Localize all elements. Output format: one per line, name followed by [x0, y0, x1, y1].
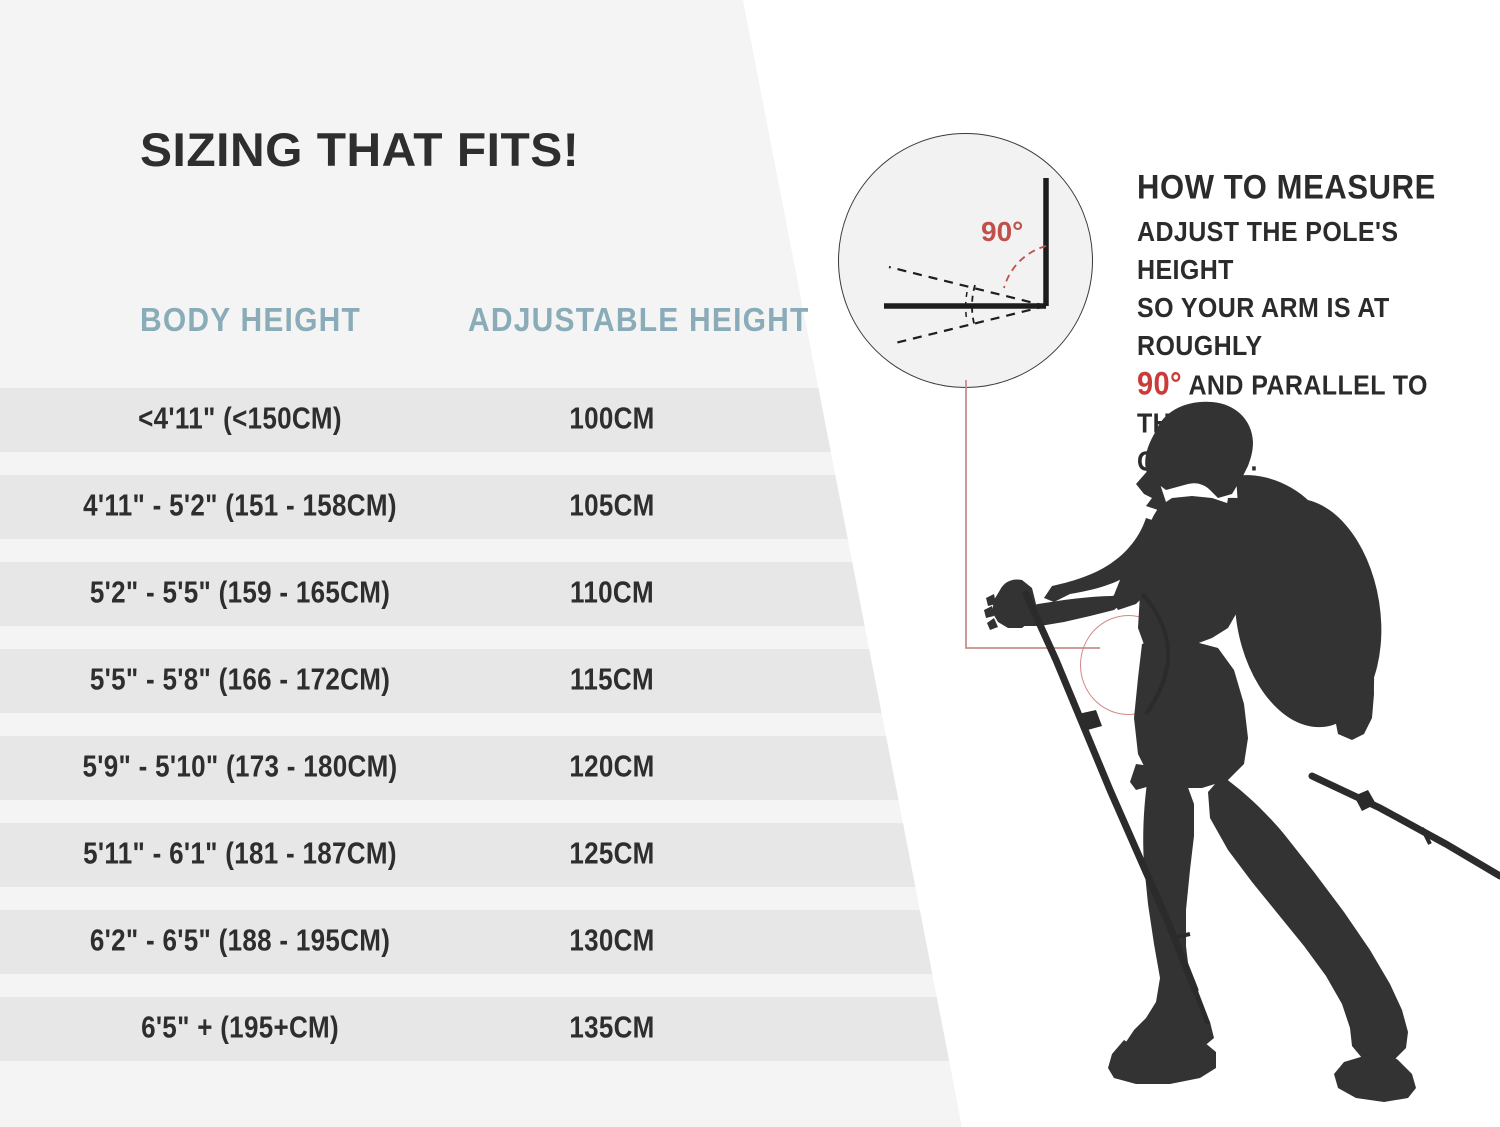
angle-label: 90° [981, 216, 1023, 248]
cell-adjustable-height: 125CM [492, 836, 732, 872]
cell-adjustable-height: 105CM [492, 488, 732, 524]
measure-line-1: ADJUST THE POLE'S HEIGHT [1137, 216, 1398, 285]
angle-diagram-circle: 90° [838, 133, 1093, 388]
cell-adjustable-height: 100CM [492, 401, 732, 437]
hiker-silhouette-icon [960, 398, 1500, 1127]
cell-adjustable-height: 135CM [492, 1010, 732, 1046]
measure-line-2: SO YOUR ARM IS AT ROUGHLY [1137, 293, 1390, 362]
cell-body-height: 5'5" - 5'8" (166 - 172CM) [30, 662, 450, 698]
column-header-body-height: BODY HEIGHT [140, 302, 361, 340]
cell-body-height: 6'5" + (195+CM) [30, 1010, 450, 1046]
cell-adjustable-height: 115CM [492, 662, 732, 698]
cell-body-height: 5'11" - 6'1" (181 - 187CM) [30, 836, 450, 872]
cell-body-height: <4'11" (<150CM) [30, 401, 450, 437]
angle-arc-icon [1004, 246, 1046, 288]
cell-adjustable-height: 130CM [492, 923, 732, 959]
measure-accent-90-degrees: 90° [1137, 366, 1182, 402]
right-angle-icon [839, 134, 1093, 388]
cell-adjustable-height: 120CM [492, 749, 732, 785]
column-header-adjustable-height: ADJUSTABLE HEIGHT [468, 302, 810, 340]
cell-body-height: 6'2" - 6'5" (188 - 195CM) [30, 923, 450, 959]
cell-body-height: 5'9" - 5'10" (173 - 180CM) [30, 749, 450, 785]
cell-body-height: 5'2" - 5'5" (159 - 165CM) [30, 575, 450, 611]
cell-adjustable-height: 110CM [492, 575, 732, 611]
page-title: SIZING THAT FITS! [140, 122, 579, 177]
cell-body-height: 4'11" - 5'2" (151 - 158CM) [30, 488, 450, 524]
measure-heading: HOW TO MEASURE [1137, 167, 1436, 207]
